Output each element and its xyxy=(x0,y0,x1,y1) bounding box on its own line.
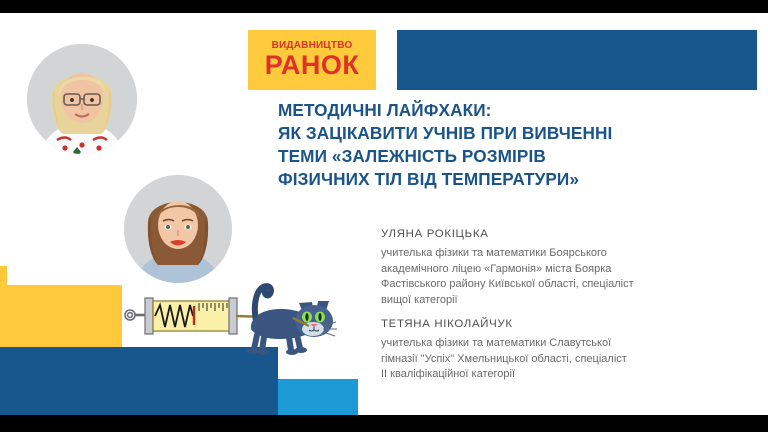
presenter-description-uliana: учителька фізики та математики Боярськог… xyxy=(381,246,741,309)
bio-tetyana-line-1: учителька фізики та математики Славутськ… xyxy=(381,336,741,352)
illustration-cat-spring-dynamometer xyxy=(123,275,338,361)
presenter-name-tetyana: ТЕТЯНА НІКОЛАЙЧУК xyxy=(381,318,741,330)
header-blue-band xyxy=(397,30,757,90)
slide-canvas: ВИДАВНИЦТВО РАНОК МЕТОДИЧНІ ЛАЙФХАКИ: ЯК… xyxy=(0,13,768,415)
presenter-photo-uliana xyxy=(27,44,137,154)
publisher-logo-main-text: РАНОК xyxy=(265,52,360,79)
presenter-photo-tetyana xyxy=(124,175,232,283)
presenter-description-tetyana: учителька фізики та математики Славутськ… xyxy=(381,336,741,383)
presentation-slide: ВИДАВНИЦТВО РАНОК МЕТОДИЧНІ ЛАЙФХАКИ: ЯК… xyxy=(0,0,768,432)
title-line-3: ТЕМИ «ЗАЛЕЖНІСТЬ РОЗМІРІВ xyxy=(278,145,726,168)
slide-title: МЕТОДИЧНІ ЛАЙФХАКИ: ЯК ЗАЦІКАВИТИ УЧНІВ … xyxy=(278,99,726,191)
letterbox-top xyxy=(0,0,768,13)
presenter-bio-tetyana: ТЕТЯНА НІКОЛАЙЧУК учителька фізики та ма… xyxy=(381,318,741,383)
title-line-2: ЯК ЗАЦІКАВИТИ УЧНІВ ПРИ ВИВЧЕННІ xyxy=(278,122,726,145)
decorative-cyan-block xyxy=(278,379,358,415)
title-line-4: ФІЗИЧНИХ ТІЛ ВІД ТЕМПЕРАТУРИ» xyxy=(278,168,726,191)
presenter-bio-uliana: УЛЯНА РОКІЦЬКА учителька фізики та матем… xyxy=(381,228,741,309)
bio-tetyana-line-2: гімназії "Успіх" Хмельницької області, с… xyxy=(381,352,741,368)
bio-tetyana-line-3: II кваліфікаційної категорії xyxy=(381,367,741,383)
presenter-name-uliana: УЛЯНА РОКІЦЬКА xyxy=(381,228,741,240)
letterbox-bottom xyxy=(0,415,768,432)
bio-uliana-line-4: вищої категорії xyxy=(381,293,741,309)
title-line-1: МЕТОДИЧНІ ЛАЙФХАКИ: xyxy=(278,99,726,122)
publisher-logo: ВИДАВНИЦТВО РАНОК xyxy=(248,30,376,90)
bio-uliana-line-2: академічного ліцею «Гармонія» міста Бояр… xyxy=(381,262,741,278)
decorative-yellow-block xyxy=(0,285,122,347)
bio-uliana-line-3: Фастівського району Київської області, с… xyxy=(381,277,741,293)
bio-uliana-line-1: учителька фізики та математики Боярськог… xyxy=(381,246,741,262)
